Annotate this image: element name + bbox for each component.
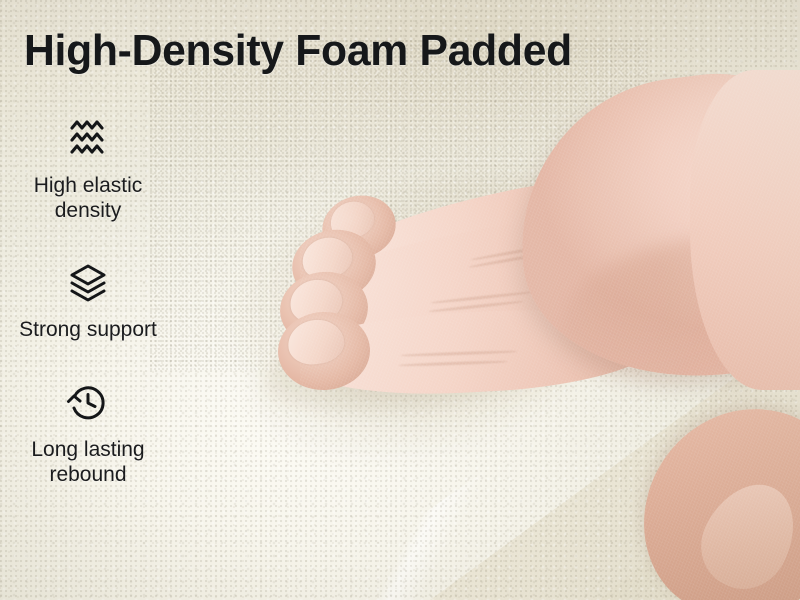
layers-stack-icon	[0, 262, 176, 308]
clock-rewind-icon	[0, 382, 176, 428]
wavy-lines-icon	[0, 118, 176, 164]
feature-label: High elastic density	[0, 174, 176, 224]
feature-long-lasting-rebound: Long lasting rebound	[0, 382, 176, 488]
feature-label: Strong support	[0, 318, 176, 343]
feature-high-elastic-density: High elastic density	[0, 118, 176, 224]
product-feature-image: High-Density Foam Padded High elastic de…	[0, 0, 800, 600]
feature-strong-support: Strong support	[0, 262, 176, 343]
feature-label: Long lasting rebound	[0, 438, 176, 488]
page-title: High-Density Foam Padded	[24, 26, 572, 76]
